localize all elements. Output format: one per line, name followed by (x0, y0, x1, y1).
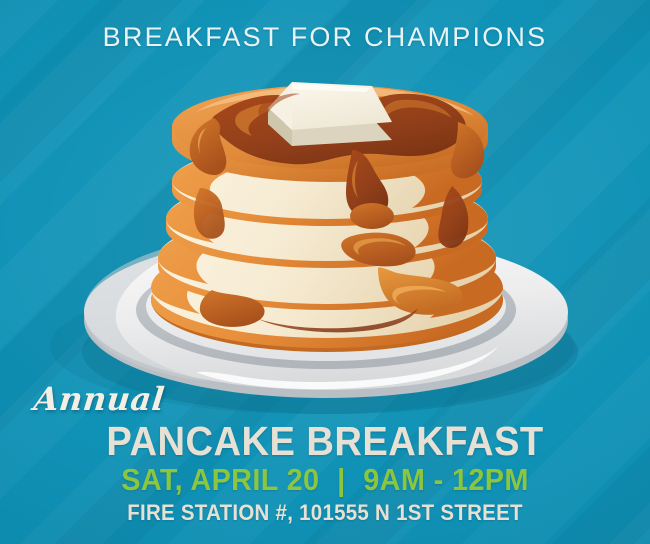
event-datetime: SAT, APRIL 20 | 9AM - 12PM (23, 462, 628, 498)
event-address: FIRE STATION #, 101555 N 1ST STREET (23, 500, 628, 526)
event-title: PANCAKE BREAKFAST (23, 418, 628, 465)
kicker-annual: Annual (32, 380, 167, 418)
event-date: SAT, APRIL 20 (121, 462, 319, 497)
poster-tagline: BREAKFAST FOR CHAMPIONS (0, 22, 650, 53)
event-time: 9AM - 12PM (363, 462, 529, 497)
pancake-breakfast-poster: BREAKFAST FOR CHAMPIONS (0, 0, 650, 544)
datetime-separator: | (328, 462, 355, 497)
